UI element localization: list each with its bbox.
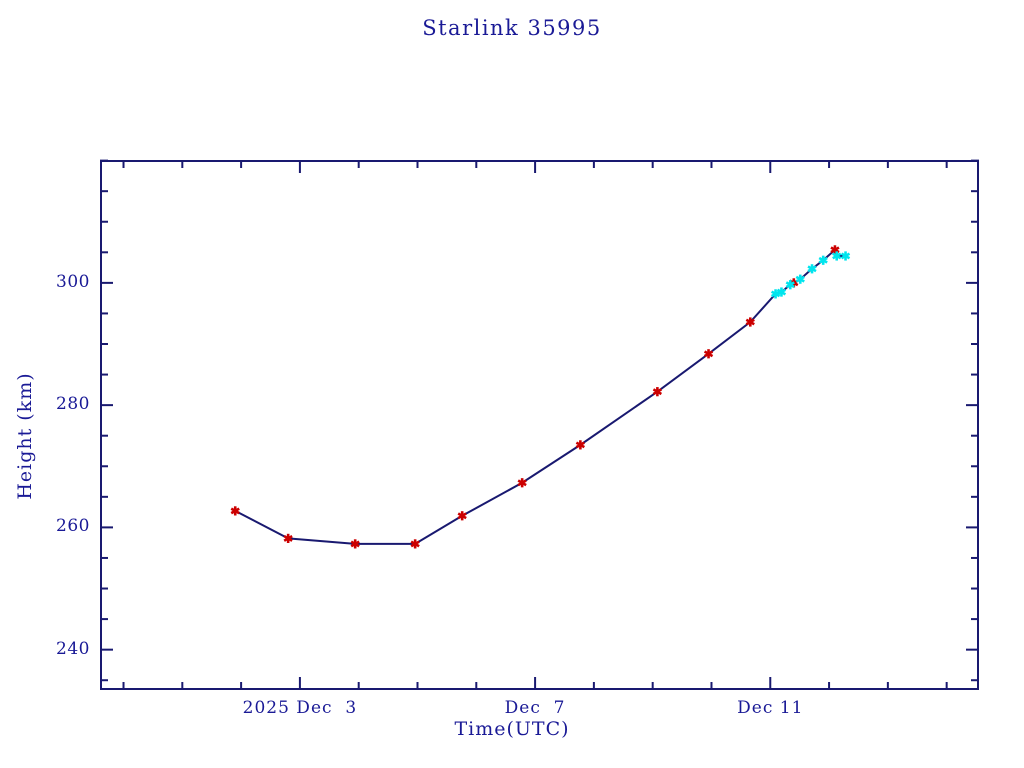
y-tick-label: 240	[20, 639, 90, 659]
y-tick-label: 260	[20, 516, 90, 536]
data-point-marker	[576, 440, 584, 449]
y-tick-label: 300	[20, 272, 90, 292]
data-point-marker	[231, 506, 239, 515]
data-series-layer	[0, 0, 1024, 768]
data-point-marker	[458, 511, 466, 520]
data-point-marker	[518, 478, 526, 487]
x-tick-label: 2025 Dec 3	[170, 698, 430, 718]
x-tick-label: Dec 11	[640, 698, 900, 718]
y-tick-label: 280	[20, 394, 90, 414]
chart-canvas: Starlink 35995 Height (km) Time(UTC) 300…	[0, 0, 1024, 768]
height-trend-line	[235, 250, 845, 544]
x-tick-label: Dec 7	[405, 698, 665, 718]
